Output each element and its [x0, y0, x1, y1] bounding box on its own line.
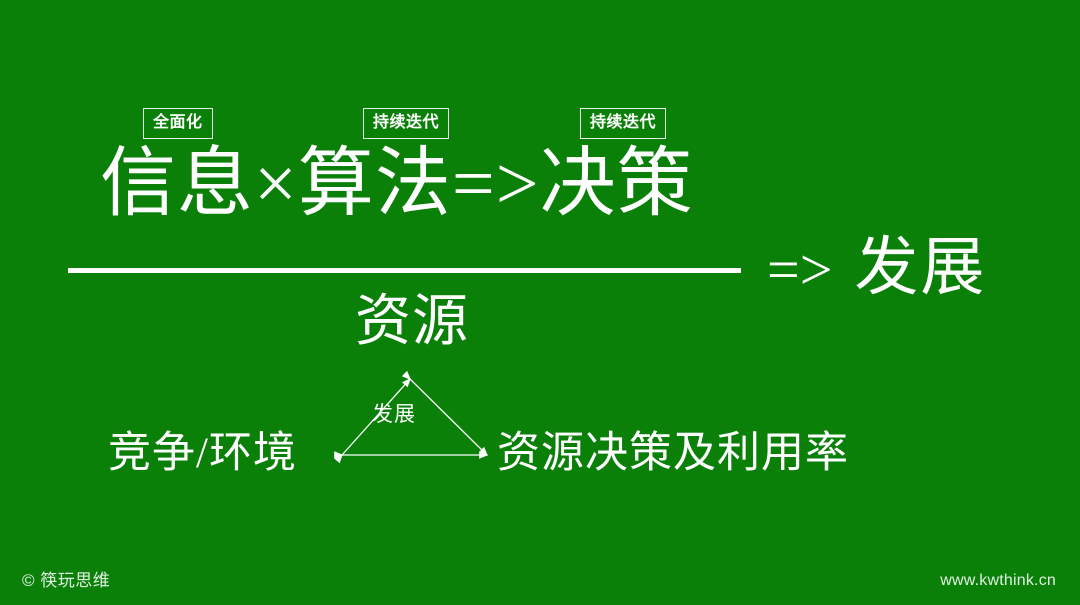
tag-box-quanmianhua: 全面化: [143, 108, 213, 139]
formula-numerator: 信息×算法=>决策: [100, 142, 694, 227]
tag-box-chixudiedai-2: 持续迭代: [580, 108, 666, 139]
slide-canvas: 全面化 持续迭代 持续迭代 信息×算法=>决策 资源 =>发展 发展 竞争/环境…: [0, 0, 1080, 605]
formula-result: =>发展: [767, 233, 986, 303]
footer-copyright: © 筷玩思维: [22, 566, 110, 591]
triangle-center-label: 发展: [372, 404, 416, 425]
fraction-bar: [68, 268, 741, 273]
result-arrow-icon: =>: [767, 237, 832, 302]
formula-denominator: 资源: [355, 290, 469, 354]
bottom-label-left: 竞争/环境: [108, 430, 297, 477]
bottom-label-right: 资源决策及利用率: [497, 430, 849, 477]
footer-website[interactable]: www.kwthink.cn: [940, 572, 1056, 590]
result-label: 发展: [854, 232, 986, 303]
tag-box-chixudiedai-1: 持续迭代: [363, 108, 449, 139]
